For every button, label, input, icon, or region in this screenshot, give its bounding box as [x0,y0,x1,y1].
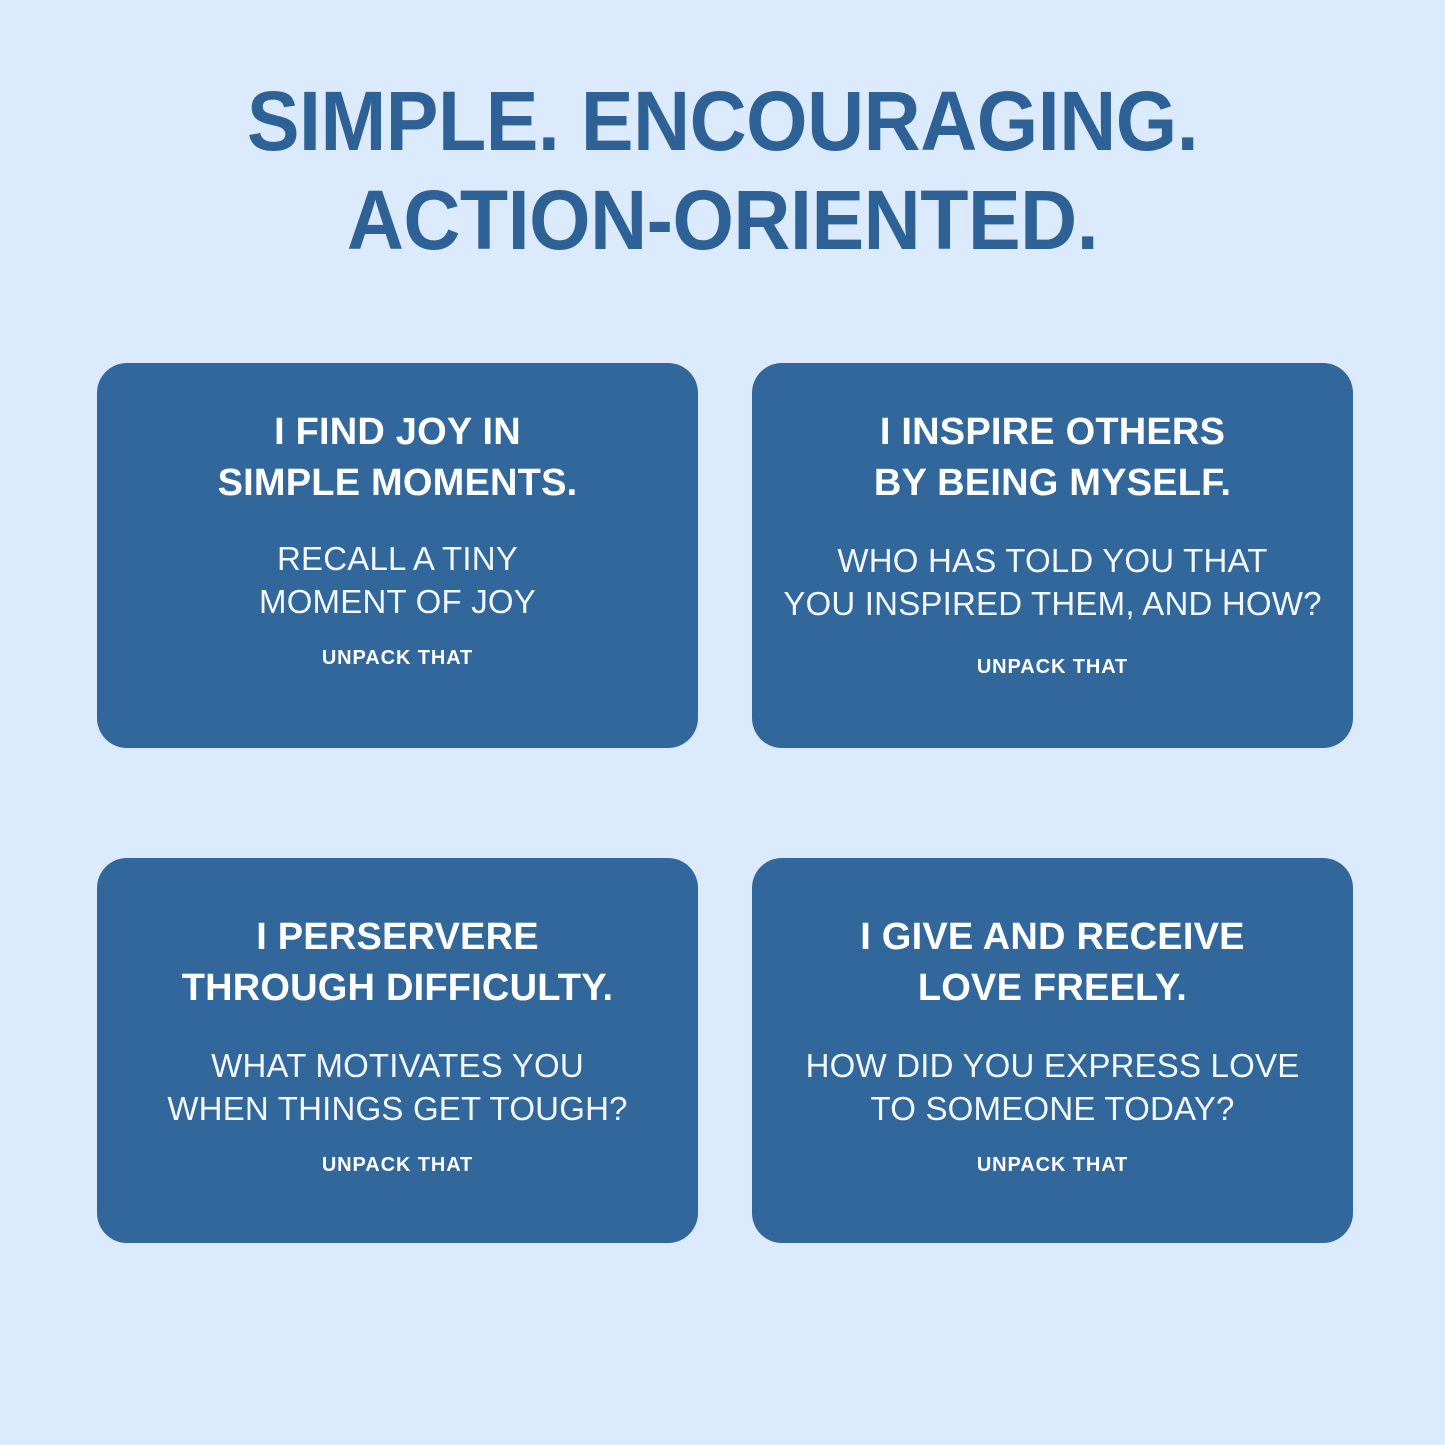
card-grid: I FIND JOY IN SIMPLE MOMENTS. RECALL A T… [97,363,1353,1243]
unpack-that-button[interactable]: UNPACK THAT [977,1153,1128,1177]
affirmation-title: I PERSERVERE THROUGH DIFFICULTY. [182,912,614,1014]
affirmation-title: I INSPIRE OTHERS BY BEING MYSELF. [874,407,1231,509]
affirmation-prompt: HOW DID YOU EXPRESS LOVE TO SOMEONE TODA… [806,1044,1300,1130]
page-title-line-2: ACTION-ORIENTED. [43,171,1401,270]
page-title-line-1: SIMPLE. ENCOURAGING. [43,72,1401,171]
unpack-that-button[interactable]: UNPACK THAT [322,646,473,670]
affirmation-card[interactable]: I PERSERVERE THROUGH DIFFICULTY. WHAT MO… [97,858,698,1243]
affirmation-card-board: SIMPLE. ENCOURAGING. ACTION-ORIENTED. I … [0,0,1445,1445]
affirmation-title: I GIVE AND RECEIVE LOVE FREELY. [860,912,1244,1014]
affirmation-prompt: WHO HAS TOLD YOU THAT YOU INSPIRED THEM,… [783,539,1321,625]
page-title: SIMPLE. ENCOURAGING. ACTION-ORIENTED. [43,72,1401,270]
affirmation-card[interactable]: I GIVE AND RECEIVE LOVE FREELY. HOW DID … [752,858,1353,1243]
affirmation-title: I FIND JOY IN SIMPLE MOMENTS. [218,407,578,509]
unpack-that-button[interactable]: UNPACK THAT [977,655,1128,679]
affirmation-prompt: RECALL A TINY MOMENT OF JOY [259,537,536,623]
unpack-that-button[interactable]: UNPACK THAT [322,1153,473,1177]
affirmation-prompt: WHAT MOTIVATES YOU WHEN THINGS GET TOUGH… [167,1044,627,1130]
affirmation-card[interactable]: I FIND JOY IN SIMPLE MOMENTS. RECALL A T… [97,363,698,748]
affirmation-card[interactable]: I INSPIRE OTHERS BY BEING MYSELF. WHO HA… [752,363,1353,748]
